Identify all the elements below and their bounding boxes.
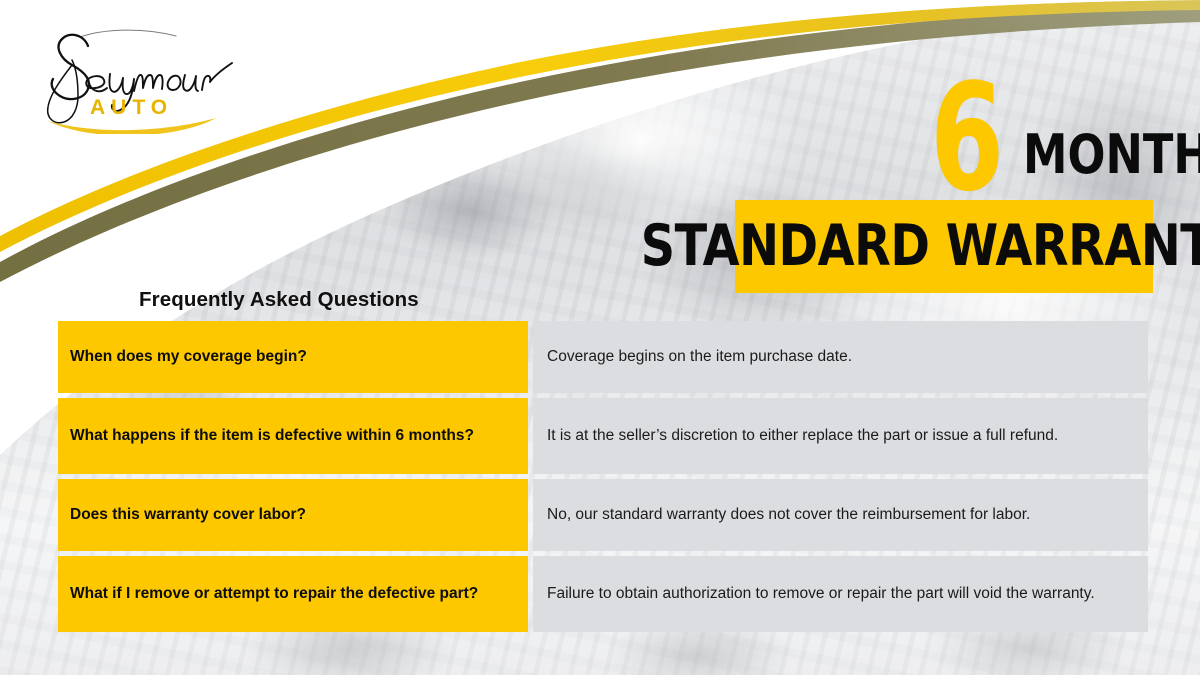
warranty-duration-number: 6 — [930, 64, 1002, 212]
faq-question-text: Does this warranty cover labor? — [70, 505, 306, 526]
faq-question-cell: What happens if the item is defective wi… — [58, 398, 528, 474]
faq-answer-text: It is at the seller’s discretion to eith… — [547, 426, 1134, 447]
table-row: Does this warranty cover labor? No, our … — [58, 479, 1148, 551]
table-row: What if I remove or attempt to repair th… — [58, 556, 1148, 632]
seymour-auto-logo: AUTO — [26, 22, 241, 134]
table-row: When does my coverage begin? Coverage be… — [58, 321, 1148, 393]
faq-question-cell: When does my coverage begin? — [58, 321, 528, 393]
faq-heading: Frequently Asked Questions — [139, 288, 419, 312]
warranty-slide: AUTO 6 MONTH STANDARD WARRANTY Frequentl… — [0, 0, 1200, 675]
faq-question-text: What if I remove or attempt to repair th… — [70, 584, 478, 605]
faq-table: When does my coverage begin? Coverage be… — [58, 321, 1148, 632]
faq-answer-text: No, our standard warranty does not cover… — [547, 505, 1134, 526]
standard-warranty-banner-label: STANDARD WARRANTY — [641, 218, 1200, 275]
svg-text:AUTO: AUTO — [90, 96, 173, 119]
faq-question-cell: What if I remove or attempt to repair th… — [58, 556, 528, 632]
warranty-duration-headline: 6 MONTH — [920, 72, 1170, 197]
standard-warranty-banner: STANDARD WARRANTY — [735, 200, 1153, 293]
faq-answer-text: Coverage begins on the item purchase dat… — [547, 347, 1134, 368]
faq-answer-cell: Failure to obtain authorization to remov… — [533, 556, 1148, 632]
faq-question-text: What happens if the item is defective wi… — [70, 426, 474, 447]
table-row: What happens if the item is defective wi… — [58, 398, 1148, 474]
faq-answer-cell: Coverage begins on the item purchase dat… — [533, 321, 1148, 393]
faq-answer-text: Failure to obtain authorization to remov… — [547, 584, 1134, 605]
faq-question-cell: Does this warranty cover labor? — [58, 479, 528, 551]
faq-answer-cell: It is at the seller’s discretion to eith… — [533, 398, 1148, 474]
faq-answer-cell: No, our standard warranty does not cover… — [533, 479, 1148, 551]
faq-question-text: When does my coverage begin? — [70, 347, 307, 368]
warranty-duration-unit: MONTH — [1023, 128, 1200, 182]
